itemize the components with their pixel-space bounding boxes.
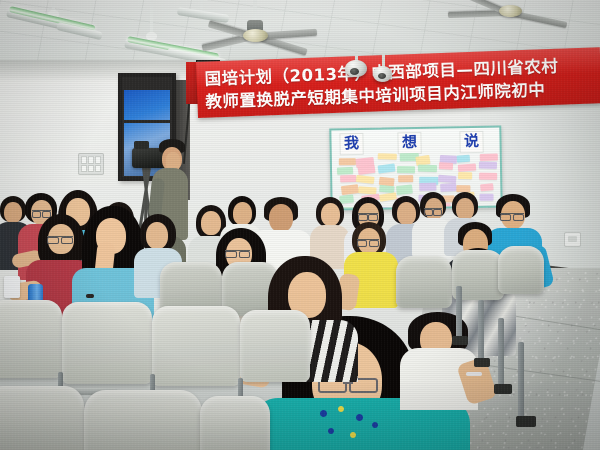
head — [269, 204, 293, 232]
sticky-note — [480, 194, 494, 201]
camera-lens — [378, 73, 386, 79]
eyeglasses — [500, 213, 524, 214]
head — [321, 203, 340, 226]
eyeglasses — [358, 213, 378, 214]
head — [397, 202, 416, 225]
seat-frame — [456, 286, 462, 342]
eyeglasses — [32, 210, 51, 211]
board-char-3: 说 — [459, 131, 483, 153]
sticky-note — [378, 164, 395, 174]
seat[interactable] — [84, 390, 202, 450]
sticky-note — [358, 186, 376, 194]
head — [233, 202, 252, 225]
light-switch[interactable] — [81, 165, 87, 173]
board-char-1: 我 — [339, 133, 363, 155]
head — [456, 198, 474, 220]
eyeglasses — [225, 250, 250, 251]
sticky-note — [396, 185, 413, 196]
sticky-note — [480, 183, 494, 191]
wall-outlet — [564, 232, 581, 247]
sticky-note — [339, 158, 356, 165]
sticky-note — [479, 162, 497, 169]
eyeglasses — [424, 208, 442, 209]
fan-hub — [243, 29, 268, 42]
seat-foot — [474, 358, 490, 367]
smartphone — [4, 276, 20, 298]
classroom-photo: 国培计划（2013年）中西部项目—四川省农村 教师置换脱产短期集中培训项目内江师… — [0, 0, 600, 450]
board-char-2: 想 — [397, 132, 421, 154]
sticky-note — [440, 183, 456, 192]
seat[interactable] — [498, 246, 544, 294]
sticky-note — [419, 183, 436, 192]
sticky-note — [340, 184, 358, 195]
seat[interactable] — [240, 310, 310, 382]
sticky-note — [378, 153, 397, 160]
sticky-note — [458, 172, 472, 179]
seat[interactable] — [396, 256, 452, 308]
sticky-note — [418, 164, 437, 171]
sticky-note — [439, 162, 454, 169]
lamp-stem — [150, 0, 153, 36]
sticky-note — [399, 175, 414, 182]
camera-lens — [350, 68, 359, 75]
seat[interactable] — [200, 396, 270, 450]
sticky-note — [397, 166, 415, 173]
light-switch[interactable] — [95, 156, 101, 164]
lamp-stem — [200, 0, 203, 9]
eyeglasses — [47, 236, 73, 237]
head — [4, 202, 22, 223]
seat-frame — [498, 318, 504, 388]
sticky-note — [358, 165, 376, 175]
seat-frame — [518, 342, 524, 420]
seat[interactable] — [152, 306, 240, 386]
light-switch-panel[interactable] — [78, 153, 104, 175]
fan-hub — [499, 5, 522, 17]
seat-foot — [516, 416, 536, 427]
sticky-note — [480, 154, 498, 161]
sticky-note — [457, 185, 471, 192]
bracelet — [86, 294, 94, 298]
sticky-note — [458, 163, 476, 172]
eyeglasses — [357, 239, 379, 240]
dome-security-camera — [373, 66, 392, 82]
seat[interactable] — [0, 300, 62, 378]
activity-board: 我 想 说 — [329, 126, 502, 211]
fan-stem — [253, 0, 257, 22]
seat[interactable] — [62, 302, 152, 384]
light-switch[interactable] — [88, 165, 94, 173]
sticky-note — [479, 173, 497, 180]
seat-foot — [452, 336, 468, 345]
seat[interactable] — [0, 386, 84, 450]
seat-foot — [494, 384, 512, 394]
camera-hood — [134, 141, 149, 149]
dome-security-camera — [345, 60, 367, 77]
light-switch[interactable] — [88, 156, 94, 164]
sticky-note — [456, 154, 470, 162]
light-switch[interactable] — [95, 165, 101, 173]
lamp-cap — [146, 32, 157, 40]
head — [146, 222, 168, 249]
sticky-note — [356, 175, 374, 184]
seat-frame — [478, 300, 484, 362]
window-mullion — [124, 120, 170, 123]
wrist-bracelet — [466, 372, 482, 376]
collar-embroidery — [316, 404, 388, 450]
sticky-note — [340, 175, 356, 182]
head — [201, 211, 221, 235]
light-switch[interactable] — [81, 156, 87, 164]
sticky-note — [337, 167, 354, 175]
